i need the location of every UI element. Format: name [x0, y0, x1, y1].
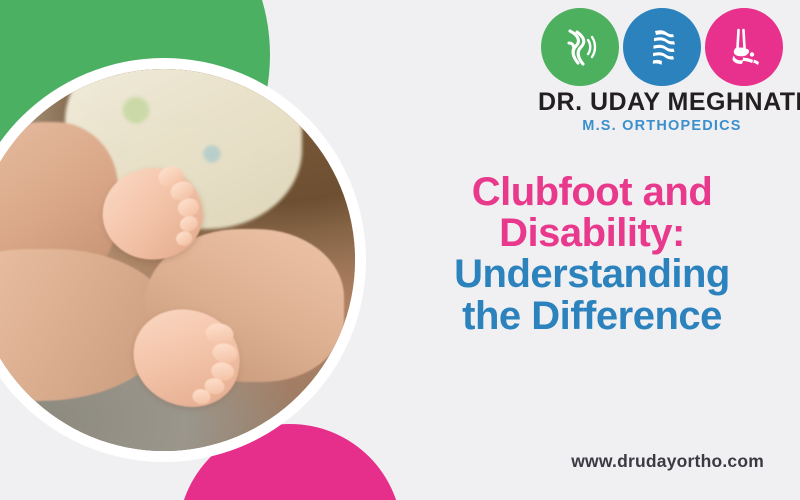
website-url[interactable]: www.drudayortho.com — [571, 451, 764, 472]
logo-qualification: M.S. ORTHOPEDICS — [538, 118, 786, 134]
logo-icon-group — [538, 8, 786, 86]
headline-line-1: Clubfoot and — [392, 172, 792, 213]
photo-vignette — [0, 69, 355, 451]
baby-feet-photo — [0, 69, 355, 451]
headline-line-3: Understanding — [392, 254, 792, 295]
spine-vertebrae-icon — [623, 8, 701, 86]
headline-block: Clubfoot and Disability: Understanding t… — [392, 172, 792, 337]
headline-line-2: Disability: — [392, 213, 792, 254]
photo-circle-frame — [0, 58, 366, 462]
promo-banner: DR. UDAY MEGHNATHI M.S. ORTHOPEDICS Club… — [0, 0, 800, 500]
foot-ankle-bone-icon — [705, 8, 783, 86]
clinic-logo[interactable]: DR. UDAY MEGHNATHI M.S. ORTHOPEDICS — [538, 8, 786, 134]
headline-line-4: the Difference — [392, 296, 792, 337]
knee-joint-icon — [541, 8, 619, 86]
logo-doctor-name: DR. UDAY MEGHNATHI — [538, 88, 786, 117]
